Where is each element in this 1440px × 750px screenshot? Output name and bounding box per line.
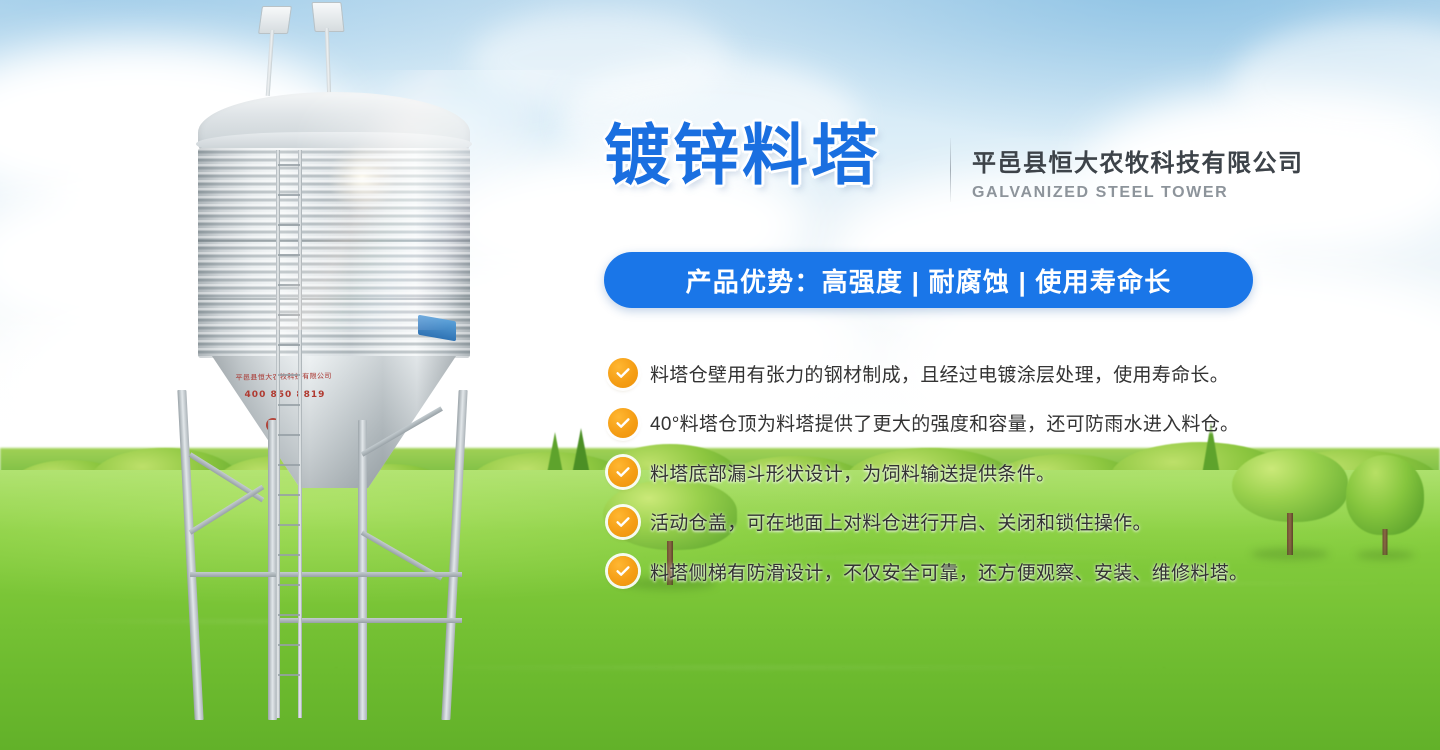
silo-product-photo: 平邑县恒大农牧科技有限公司 400 850 8819 xyxy=(150,0,510,750)
advantages-banner-label: 产品优势：高强度 | 耐腐蚀 | 使用寿命长 xyxy=(686,262,1172,299)
leg-brace xyxy=(278,618,462,623)
list-item-label: 料塔底部漏斗形状设计，为饲料输送提供条件。 xyxy=(650,459,1055,486)
silo-seam xyxy=(198,298,470,300)
list-item-label: 料塔侧梯有防滑设计，不仅安全可靠，还方便观察、安装、维修料塔。 xyxy=(650,558,1248,585)
list-item-label: 活动仓盖，可在地面上对料仓进行开启、关闭和锁住操作。 xyxy=(650,508,1152,535)
ladder-rung xyxy=(278,464,300,466)
lawn-tree xyxy=(1340,455,1430,555)
check-circle-icon xyxy=(608,408,638,438)
ladder-rung xyxy=(278,434,300,436)
ladder-rung xyxy=(278,194,300,196)
ladder-rung xyxy=(278,224,300,226)
list-item: 料塔仓壁用有张力的钢材制成，且经过电镀涂层处理，使用寿命长。 xyxy=(608,358,1229,388)
silo-seam xyxy=(198,240,470,242)
list-item: 料塔底部漏斗形状设计，为饲料输送提供条件。 xyxy=(608,457,1055,487)
leg-brace xyxy=(189,485,265,535)
company-name: 平邑县恒大农牧科技有限公司 xyxy=(972,143,1304,178)
page-title: 镀锌料塔 xyxy=(604,122,880,188)
ladder-rung xyxy=(278,404,300,406)
list-item: 40°料塔仓顶为料塔提供了更大的强度和容量，还可防雨水进入料仓。 xyxy=(608,408,1239,438)
silo-hatch xyxy=(258,6,292,34)
promo-banner: 平邑县恒大农牧科技有限公司 400 850 8819 xyxy=(0,0,1440,750)
ladder-rung xyxy=(278,254,300,256)
ladder-rung xyxy=(278,164,300,166)
list-item: 活动仓盖，可在地面上对料仓进行开启、关闭和锁住操作。 xyxy=(608,507,1152,537)
ladder-rung xyxy=(278,554,300,556)
check-circle-icon xyxy=(608,556,638,586)
check-circle-icon xyxy=(608,507,638,537)
tree-shadow xyxy=(1251,548,1329,560)
check-circle-icon xyxy=(608,457,638,487)
ladder-rung xyxy=(278,524,300,526)
ladder-rung xyxy=(278,584,300,586)
english-subtitle: GALVANIZED STEEL TOWER xyxy=(972,184,1228,202)
ladder-rung xyxy=(278,314,300,316)
list-item: 料塔侧梯有防滑设计，不仅安全可靠，还方便观察、安装、维修料塔。 xyxy=(608,556,1248,586)
silo-leg xyxy=(358,420,367,720)
tree-shadow xyxy=(1356,550,1414,560)
ladder-rung xyxy=(278,614,300,616)
ladder-rung xyxy=(278,284,300,286)
title-divider xyxy=(950,138,951,202)
ladder-rung xyxy=(278,644,300,646)
ladder-rung xyxy=(278,344,300,346)
silo-leg xyxy=(177,390,203,720)
ladder-rung xyxy=(278,374,300,376)
silo-hatch-arm xyxy=(325,28,331,96)
advantages-banner: 产品优势：高强度 | 耐腐蚀 | 使用寿命长 xyxy=(604,252,1253,308)
silo-side-ladder xyxy=(276,150,302,718)
ladder-rung xyxy=(278,494,300,496)
ladder-rung xyxy=(278,674,300,676)
silo-leg xyxy=(441,390,467,720)
silo-hatch-arm xyxy=(266,30,275,96)
leg-brace xyxy=(190,572,462,577)
tree-canopy xyxy=(1346,455,1424,535)
lawn-tree xyxy=(1230,450,1350,555)
list-item-label: 料塔仓壁用有张力的钢材制成，且经过电镀涂层处理，使用寿命长。 xyxy=(650,360,1229,387)
list-item-label: 40°料塔仓顶为料塔提供了更大的强度和容量，还可防雨水进入料仓。 xyxy=(650,409,1239,436)
tree-canopy xyxy=(1232,450,1348,522)
check-circle-icon xyxy=(608,358,638,388)
